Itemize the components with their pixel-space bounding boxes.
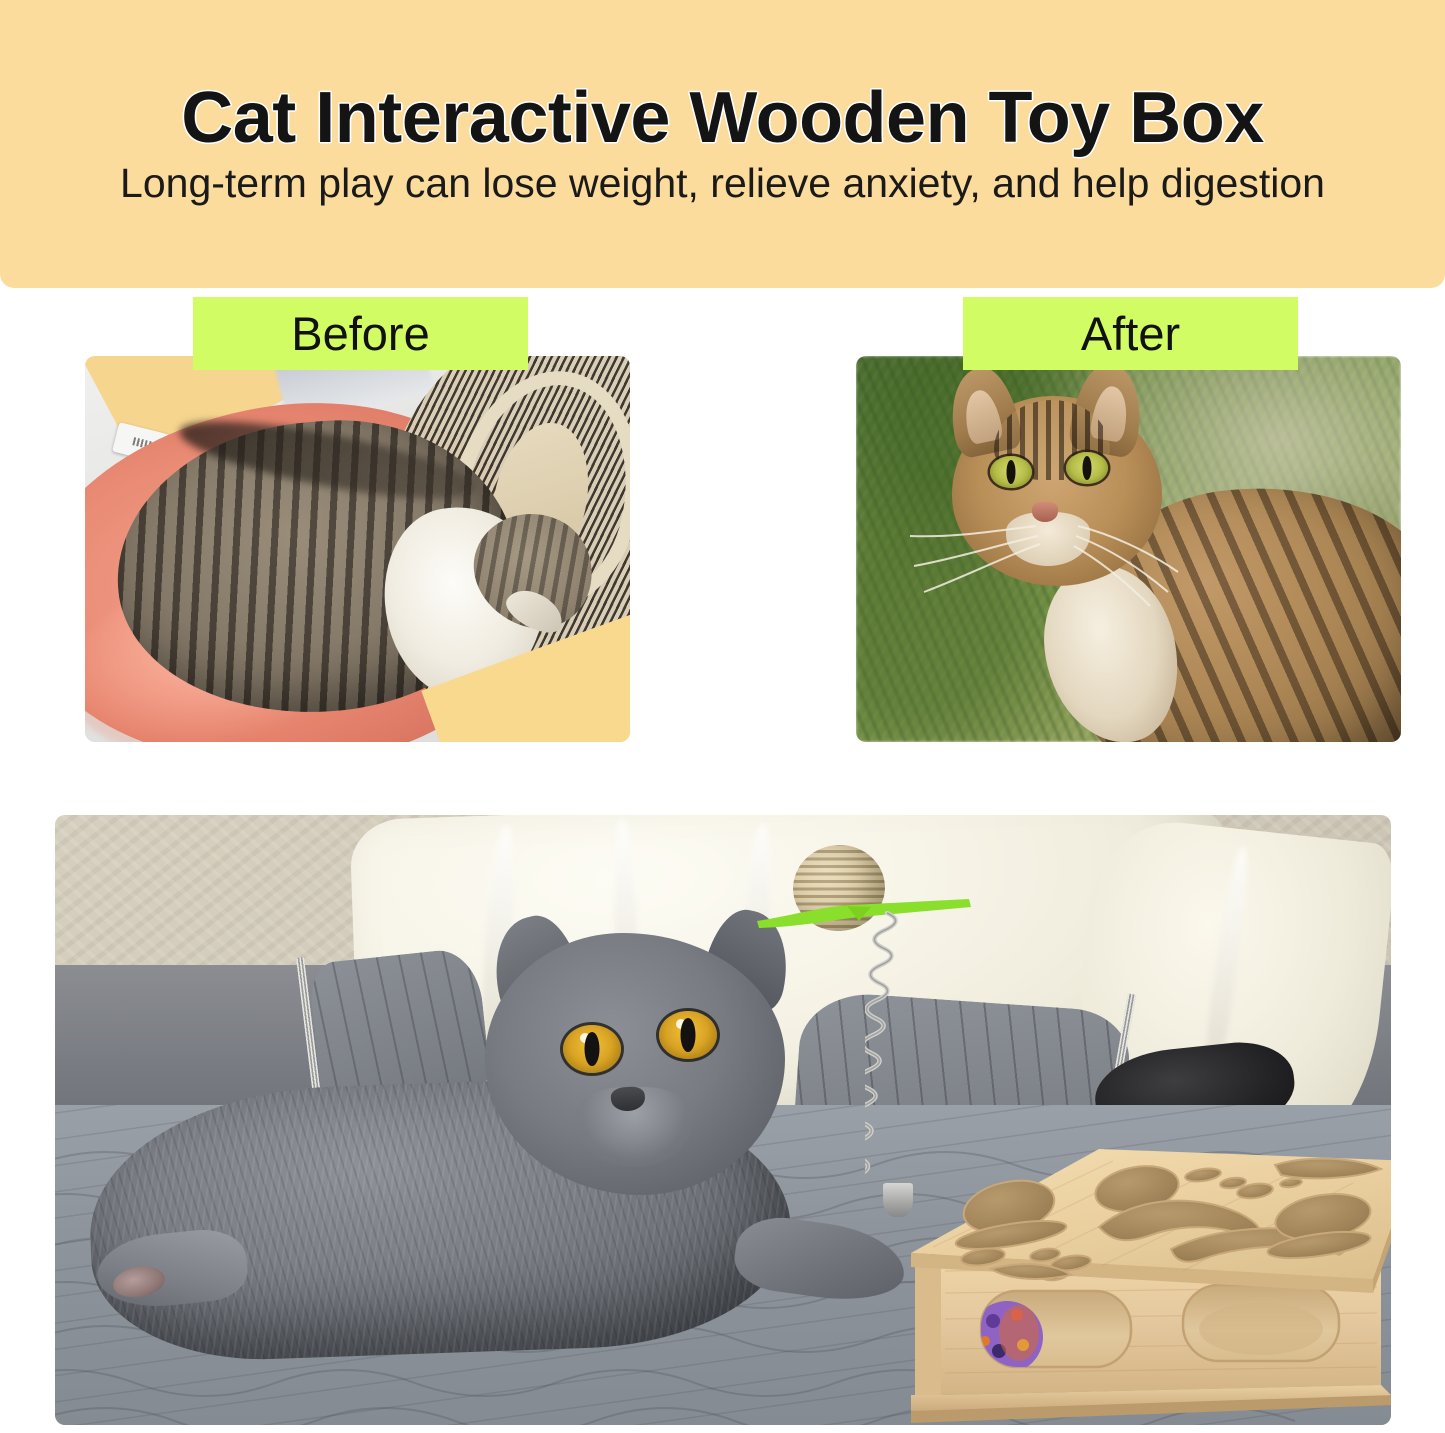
- hero-product-photo: [55, 815, 1391, 1425]
- before-photo: [85, 356, 630, 742]
- header-banner: Cat Interactive Wooden Toy Box Long-term…: [0, 0, 1445, 288]
- after-label-badge: After: [963, 297, 1298, 370]
- hero-wooden-box-top-panel: [903, 1131, 1391, 1321]
- after-photo: [856, 356, 1401, 742]
- hero-cat-right-eye: [659, 1011, 717, 1059]
- page-subtitle: Long-term play can lose weight, relieve …: [120, 160, 1325, 207]
- hero-cat-left-eye: [563, 1025, 621, 1073]
- page-title: Cat Interactive Wooden Toy Box: [181, 81, 1264, 157]
- before-label-text: Before: [291, 310, 429, 357]
- after-cat-whiskers-icon: [896, 506, 1196, 616]
- after-cat-left-eye: [990, 456, 1032, 488]
- after-cat-right-eye: [1066, 452, 1108, 484]
- after-label-text: After: [1081, 310, 1180, 357]
- before-label-badge: Before: [193, 297, 528, 370]
